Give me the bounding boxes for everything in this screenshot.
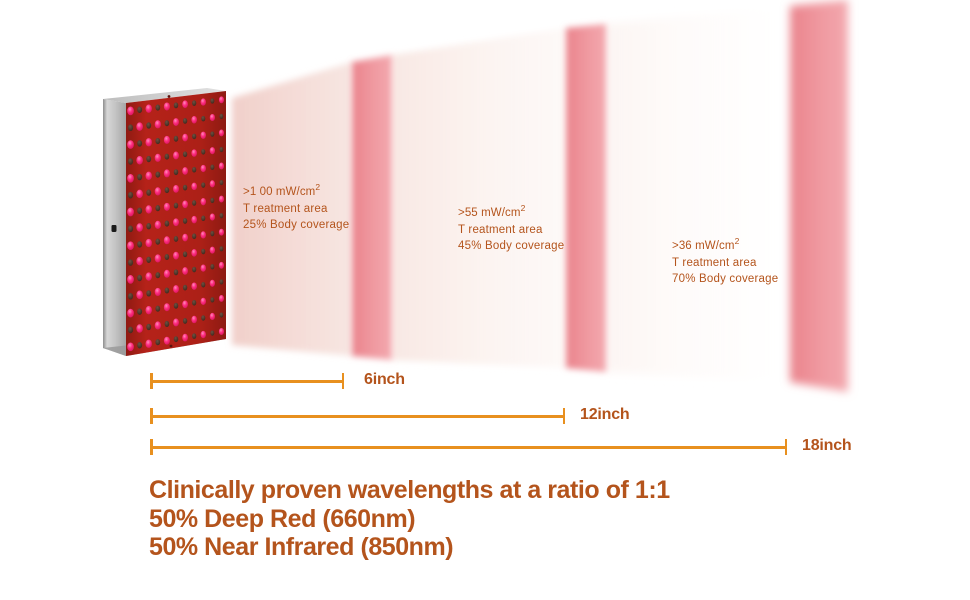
- led-infrared-diode: [183, 285, 187, 291]
- led-infrared-diode: [174, 203, 178, 209]
- led-infrared-diode: [128, 226, 133, 233]
- led-infrared-diode: [183, 151, 187, 157]
- led-red-diode: [201, 132, 206, 139]
- led-red-diode: [219, 295, 224, 302]
- infographic-root: >1 00 mW/cm2 T reatment area 25% Body co…: [0, 0, 970, 600]
- led-infrared-diode: [137, 207, 142, 213]
- led-infrared-diode: [210, 165, 214, 170]
- ruler-bar: [150, 415, 565, 418]
- distance-label-18inch: 18inch: [802, 437, 852, 455]
- headline-line-2: 50% Deep Red (660nm): [149, 505, 670, 534]
- led-infrared-diode: [210, 297, 214, 302]
- led-red-diode: [182, 334, 188, 342]
- unit-superscript: 2: [521, 203, 526, 213]
- led-infrared-diode: [155, 104, 160, 110]
- distance-label-12inch: 12inch: [580, 406, 630, 424]
- led-infrared-diode: [220, 114, 224, 119]
- led-red-diode: [210, 213, 215, 220]
- led-infrared-diode: [220, 213, 224, 218]
- led-infrared-diode: [220, 246, 224, 251]
- led-infrared-diode: [183, 318, 187, 324]
- led-infrared-diode: [183, 218, 187, 224]
- beam-plane-6inch: [352, 55, 392, 360]
- led-infrared-diode: [155, 239, 160, 245]
- led-infrared-diode: [220, 312, 224, 317]
- led-red-diode: [219, 328, 224, 335]
- led-red-diode: [164, 303, 170, 311]
- led-red-diode: [127, 309, 134, 318]
- led-infrared-diode: [183, 185, 187, 191]
- led-red-diode: [182, 234, 188, 242]
- irradiance-value-3: >36 mW/cm2: [672, 238, 778, 255]
- led-red-diode: [155, 288, 161, 296]
- led-infrared-diode: [210, 198, 214, 203]
- body-coverage-text-1: 25% Body coverage: [243, 217, 349, 234]
- led-infrared-diode: [192, 300, 196, 306]
- led-red-diode: [201, 231, 206, 238]
- led-infrared-diode: [146, 324, 151, 330]
- led-red-diode: [182, 134, 188, 142]
- led-infrared-diode: [128, 293, 133, 300]
- unit-superscript: 2: [315, 182, 320, 192]
- led-infrared-diode: [201, 216, 205, 222]
- led-red-diode: [219, 129, 224, 136]
- led-red-diode: [155, 154, 161, 162]
- led-infrared-diode: [192, 233, 196, 239]
- led-infrared-diode: [128, 124, 133, 131]
- headline-line-1: Clinically proven wavelengths at a ratio…: [149, 476, 670, 505]
- led-infrared-diode: [165, 221, 170, 227]
- led-red-diode: [210, 313, 215, 320]
- ruler-cap-right: [563, 408, 566, 424]
- led-red-diode: [146, 172, 152, 180]
- led-infrared-diode: [220, 279, 224, 284]
- led-infrared-diode: [201, 182, 205, 188]
- led-red-diode: [182, 100, 188, 108]
- led-infrared-diode: [210, 231, 214, 236]
- led-red-diode: [191, 149, 197, 156]
- led-infrared-diode: [146, 290, 151, 296]
- led-infrared-diode: [192, 267, 196, 273]
- led-infrared-diode: [128, 327, 133, 334]
- led-red-diode: [127, 208, 134, 217]
- led-infrared-diode: [155, 272, 160, 278]
- treatment-info-label-6inch: >1 00 mW/cm2 T reatment area 25% Body co…: [243, 184, 349, 234]
- beam-haze-segment-2: [392, 28, 566, 368]
- led-red-diode: [136, 257, 143, 266]
- led-red-diode: [146, 138, 152, 146]
- led-infrared-diode: [174, 102, 178, 108]
- led-red-diode: [136, 291, 143, 300]
- headline-line-3: 50% Near Infrared (850nm): [149, 533, 670, 562]
- led-red-diode: [164, 169, 170, 177]
- led-red-diode: [173, 285, 179, 293]
- irradiance-value-2: >55 mW/cm2: [458, 205, 564, 222]
- led-red-diode: [146, 239, 152, 247]
- led-red-diode: [191, 316, 197, 323]
- led-infrared-diode: [220, 180, 224, 185]
- led-red-diode: [219, 196, 224, 203]
- led-red-diode: [136, 324, 143, 333]
- led-red-diode: [155, 120, 161, 128]
- led-infrared-diode: [174, 236, 178, 242]
- led-infrared-diode: [201, 315, 205, 321]
- ruler-bar: [150, 446, 787, 449]
- led-infrared-diode: [210, 264, 214, 269]
- led-red-diode: [155, 221, 161, 229]
- led-infrared-diode: [174, 303, 178, 309]
- led-infrared-diode: [201, 149, 205, 155]
- led-red-diode: [182, 267, 188, 275]
- led-red-diode: [136, 190, 143, 199]
- led-red-diode: [210, 180, 215, 187]
- led-infrared-diode: [137, 275, 142, 281]
- led-infrared-diode: [146, 223, 151, 229]
- led-infrared-diode: [165, 287, 170, 293]
- headline-block: Clinically proven wavelengths at a ratio…: [149, 476, 670, 562]
- led-infrared-diode: [137, 107, 142, 113]
- ruler-cap-right: [342, 373, 345, 389]
- panel-screw-top: [168, 95, 171, 98]
- led-infrared-diode: [128, 259, 133, 266]
- led-red-diode: [146, 306, 152, 314]
- led-red-diode: [127, 342, 134, 351]
- unit-superscript: 2: [735, 236, 740, 246]
- led-red-diode: [155, 254, 161, 262]
- led-infrared-diode: [210, 131, 214, 136]
- led-red-diode: [210, 247, 215, 254]
- led-red-diode: [146, 205, 152, 213]
- led-infrared-diode: [146, 122, 151, 128]
- led-red-diode: [219, 96, 224, 103]
- distance-ruler-12inch: [150, 406, 565, 426]
- led-red-diode: [127, 107, 134, 116]
- led-infrared-diode: [201, 116, 205, 122]
- led-red-diode: [210, 114, 215, 121]
- ruler-cap-right: [785, 439, 788, 455]
- led-red-diode: [146, 105, 152, 113]
- led-infrared-diode: [137, 241, 142, 247]
- led-red-diode: [173, 152, 179, 160]
- treatment-info-label-12inch: >55 mW/cm2 T reatment area 45% Body cove…: [458, 205, 564, 255]
- led-red-diode: [182, 300, 188, 308]
- led-red-diode: [136, 156, 143, 165]
- led-red-diode: [164, 102, 170, 110]
- led-red-diode: [173, 319, 179, 327]
- led-red-diode: [182, 200, 188, 208]
- led-infrared-diode: [137, 174, 142, 180]
- led-red-diode: [201, 298, 206, 305]
- body-coverage-text-2: 45% Body coverage: [458, 238, 564, 255]
- led-infrared-diode: [165, 321, 170, 327]
- led-red-diode: [201, 198, 206, 205]
- led-infrared-diode: [174, 136, 178, 142]
- led-red-diode: [201, 165, 206, 172]
- distance-label-6inch: 6inch: [364, 371, 405, 389]
- led-infrared-diode: [192, 167, 196, 173]
- led-red-diode: [127, 140, 134, 149]
- led-infrared-diode: [155, 306, 160, 312]
- beam-plane-12inch: [566, 24, 606, 372]
- led-infrared-diode: [165, 254, 170, 260]
- led-infrared-diode: [146, 189, 151, 195]
- led-red-diode: [127, 275, 134, 284]
- led-infrared-diode: [146, 257, 151, 263]
- body-coverage-text-3: 70% Body coverage: [672, 271, 778, 288]
- led-infrared-diode: [174, 269, 178, 275]
- led-red-diode: [173, 218, 179, 226]
- led-infrared-diode: [137, 342, 142, 348]
- led-red-diode: [136, 223, 143, 232]
- led-infrared-diode: [155, 205, 160, 211]
- treatment-info-label-18inch: >36 mW/cm2 T reatment area 70% Body cove…: [672, 238, 778, 288]
- treatment-area-text-1: T reatment area: [243, 201, 349, 218]
- panel-screw-bottom: [170, 345, 173, 348]
- led-infrared-diode: [165, 187, 170, 193]
- led-red-diode: [164, 136, 170, 144]
- led-infrared-diode: [137, 140, 142, 146]
- led-infrared-diode: [146, 156, 151, 162]
- led-infrared-diode: [192, 134, 196, 140]
- led-infrared-diode: [155, 339, 160, 345]
- led-infrared-diode: [192, 100, 196, 106]
- treatment-area-text-2: T reatment area: [458, 222, 564, 239]
- led-red-diode: [146, 340, 152, 348]
- led-red-diode: [210, 147, 215, 154]
- panel-side-port[interactable]: [112, 225, 117, 232]
- led-red-diode: [191, 249, 197, 256]
- led-infrared-diode: [165, 120, 170, 126]
- irradiance-value-1: >1 00 mW/cm2: [243, 184, 349, 201]
- led-red-diode: [155, 321, 161, 329]
- led-red-diode: [164, 236, 170, 244]
- led-red-diode: [173, 118, 179, 126]
- led-red-diode: [164, 270, 170, 278]
- led-infrared-diode: [174, 336, 178, 342]
- led-red-diode: [127, 241, 134, 250]
- led-infrared-diode: [220, 147, 224, 152]
- led-red-diode: [191, 116, 197, 123]
- led-infrared-diode: [192, 333, 196, 339]
- led-infrared-diode: [174, 169, 178, 175]
- led-infrared-diode: [155, 138, 160, 144]
- led-infrared-diode: [210, 98, 214, 103]
- led-red-diode: [191, 183, 197, 190]
- led-infrared-diode: [128, 192, 133, 199]
- red-light-therapy-panel: [95, 86, 255, 358]
- beam-plane-18inch: [790, 0, 848, 392]
- led-infrared-diode: [192, 200, 196, 206]
- led-red-diode: [210, 280, 215, 287]
- led-red-diode: [173, 252, 179, 260]
- led-infrared-diode: [201, 249, 205, 255]
- panel-svg: [95, 86, 260, 366]
- beam-haze-segment-3: [606, 6, 790, 382]
- led-infrared-diode: [155, 172, 160, 178]
- led-infrared-diode: [128, 158, 133, 165]
- distance-ruler-18inch: [150, 437, 787, 457]
- led-red-diode: [191, 282, 197, 289]
- led-red-diode: [155, 187, 161, 195]
- led-infrared-diode: [165, 154, 170, 160]
- led-red-diode: [201, 264, 206, 271]
- led-red-diode: [201, 331, 206, 338]
- treatment-area-text-3: T reatment area: [672, 255, 778, 272]
- distance-ruler-6inch: [150, 371, 344, 391]
- led-infrared-diode: [210, 330, 214, 335]
- led-red-diode: [219, 262, 224, 269]
- ruler-bar: [150, 380, 344, 383]
- led-red-diode: [127, 174, 134, 183]
- led-red-diode: [173, 185, 179, 193]
- led-infrared-diode: [137, 308, 142, 314]
- led-red-diode: [191, 216, 197, 223]
- led-red-diode: [146, 272, 152, 280]
- led-red-diode: [219, 163, 224, 170]
- led-red-diode: [182, 167, 188, 175]
- led-infrared-diode: [183, 251, 187, 257]
- led-infrared-diode: [183, 118, 187, 124]
- led-red-diode: [219, 229, 224, 236]
- led-red-diode: [136, 122, 143, 131]
- led-infrared-diode: [201, 282, 205, 288]
- led-red-diode: [201, 98, 206, 105]
- led-red-diode: [164, 337, 170, 345]
- led-red-diode: [164, 203, 170, 211]
